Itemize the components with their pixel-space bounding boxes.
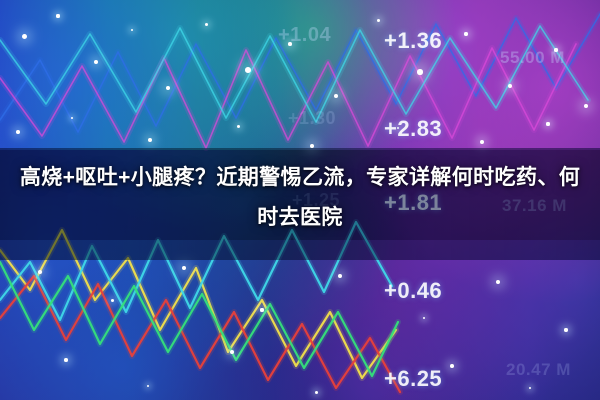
sparkle-dot bbox=[417, 69, 422, 74]
sparkle-dot bbox=[111, 299, 114, 302]
image-canvas: +1.36+2.83+1.81+0.46+6.25+1.04+1.30+1.25… bbox=[0, 0, 600, 400]
sparkle-dot bbox=[564, 328, 567, 331]
sparkle-dot bbox=[315, 391, 318, 394]
sparkle-dot bbox=[377, 19, 380, 22]
sparkle-dot bbox=[148, 138, 152, 142]
sparkle-dot bbox=[22, 34, 27, 39]
sparkle-dot bbox=[450, 364, 454, 368]
sparkle-dot bbox=[205, 23, 208, 26]
sparkle-dot bbox=[230, 350, 234, 354]
overlay-number: 20.47 M bbox=[506, 360, 571, 380]
sparkle-dot bbox=[16, 130, 20, 134]
sparkle-dot bbox=[56, 14, 59, 17]
sparkle-dot bbox=[245, 67, 251, 73]
sparkle-dot bbox=[260, 308, 263, 311]
sparkle-dot bbox=[480, 140, 484, 144]
sparkle-dot bbox=[338, 274, 342, 278]
headline-text: 高烧+呕吐+小腿疼？近期警惕乙流，专家详解何时吃药、何时去医院 bbox=[18, 158, 582, 238]
overlay-number: 55.00 M bbox=[500, 48, 565, 68]
sparkle-dot bbox=[546, 122, 549, 125]
overlay-number: +2.83 bbox=[384, 116, 442, 142]
overlay-number: +6.25 bbox=[384, 366, 442, 392]
overlay-number: +1.04 bbox=[278, 24, 331, 47]
sparkle-dot bbox=[464, 32, 467, 35]
overlay-number: +1.36 bbox=[384, 28, 442, 54]
overlay-number: +1.30 bbox=[288, 108, 336, 129]
sparkle-dot bbox=[94, 60, 98, 64]
sparkle-dot bbox=[237, 125, 240, 128]
sparkle-dot bbox=[64, 358, 68, 362]
overlay-number: +0.46 bbox=[384, 278, 442, 304]
